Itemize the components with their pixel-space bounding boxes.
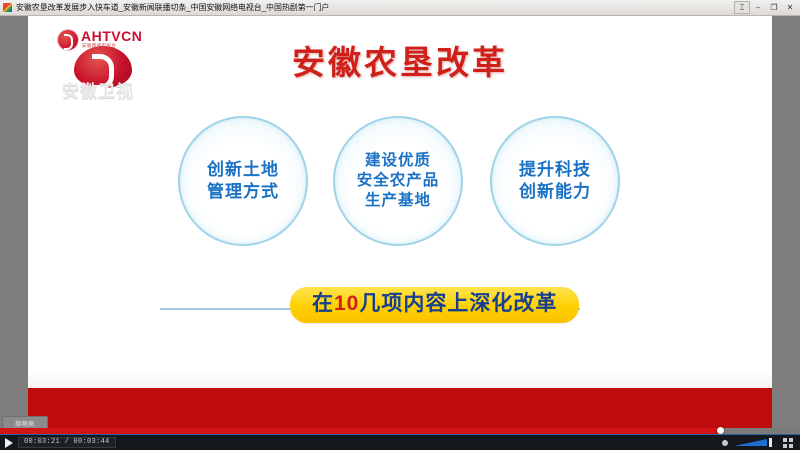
window-title: 安徽农垦改革发展步入快车道_安徽新闻联播切条_中国安徽网络电视台_中国热剧第一门… (16, 3, 734, 13)
window-controls: ⌶ – ❐ ✕ (734, 1, 798, 14)
thumbnail-chip-label: 缩略图 (15, 419, 35, 428)
title-bar: 安徽农垦改革发展步入快车道_安徽新闻联播切条_中国安徽网络电视台_中国热剧第一门… (0, 0, 800, 16)
banner-suffix: 几项内容上深化改革 (359, 292, 557, 315)
banner-prefix: 在 (312, 292, 334, 315)
player-control-bar: 00:03:21 / 00:03:44 (0, 434, 800, 450)
browser-favicon-icon (3, 3, 12, 12)
volume-slider[interactable] (734, 437, 774, 448)
logo-wordmark: AHTVCN (81, 29, 142, 43)
bottom-red-band (28, 388, 772, 428)
minimize-button[interactable]: – (750, 1, 766, 14)
browser-window: 安徽农垦改革发展步入快车道_安徽新闻联播切条_中国安徽网络电视台_中国热剧第一门… (0, 0, 800, 450)
video-stage: AHTVCN 安徽网络电视台 安徽卫视 安徽农垦改革 创新土地 管理方式 建设优… (28, 16, 772, 428)
circle-label: 创新土地 管理方式 (207, 159, 279, 203)
video-player[interactable]: AHTVCN 安徽网络电视台 安徽卫视 安徽农垦改革 创新土地 管理方式 建设优… (0, 16, 800, 450)
circle-group: 创新土地 管理方式 建设优质 安全农产品 生产基地 提升科技 创新能力 (28, 116, 772, 256)
logo-station-name: 安徽卫视 (62, 82, 166, 101)
volume-handle[interactable] (769, 438, 772, 447)
circle-land-management: 创新土地 管理方式 (178, 116, 308, 246)
time-display-text: 00:03:21 / 00:03:44 (24, 438, 110, 447)
banner-number: 10 (334, 292, 359, 315)
play-icon[interactable] (0, 435, 18, 451)
highlight-banner: 在10几项内容上深化改革 (290, 287, 579, 323)
page-content: AHTVCN 安徽网络电视台 安徽卫视 安徽农垦改革 创新土地 管理方式 建设优… (0, 16, 800, 450)
circle-quality-base: 建设优质 安全农产品 生产基地 (333, 116, 463, 246)
slide-title: 安徽农垦改革 (28, 44, 772, 82)
volume-icon[interactable] (720, 437, 733, 448)
pin-button[interactable]: ⌶ (734, 1, 750, 14)
time-display: 00:03:21 / 00:03:44 (18, 437, 116, 448)
progress-handle[interactable] (717, 427, 724, 434)
close-button[interactable]: ✕ (782, 1, 798, 14)
fullscreen-grid-icon[interactable] (780, 435, 796, 451)
circle-label: 建设优质 安全农产品 生产基地 (357, 151, 440, 211)
circle-tech-innovation: 提升科技 创新能力 (490, 116, 620, 246)
circle-label: 提升科技 创新能力 (519, 159, 591, 203)
restore-button[interactable]: ❐ (766, 1, 782, 14)
band-fade (28, 372, 772, 389)
